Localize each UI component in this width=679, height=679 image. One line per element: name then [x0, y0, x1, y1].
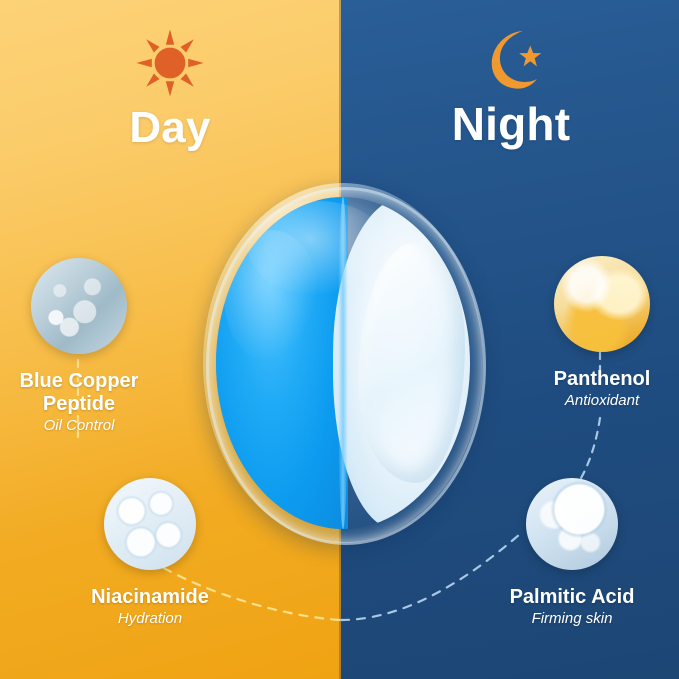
- cream-swirl: [358, 243, 465, 482]
- jar-contents: [216, 197, 470, 529]
- moon-star-icon: [474, 22, 548, 96]
- callout-niacinamide[interactable]: Niacinamide Hydration: [55, 478, 245, 629]
- sun-icon-wrap: [60, 22, 280, 104]
- ingredient-name: Blue Copper Peptide: [4, 370, 154, 416]
- ingredient-benefit: Antioxidant: [528, 391, 676, 411]
- day-title: Day: [60, 104, 280, 152]
- white-cream-chamber: [333, 197, 470, 529]
- ingredient-benefit: Hydration: [55, 609, 245, 629]
- day-header: Day: [60, 22, 280, 152]
- callout-palmitic-acid[interactable]: Palmitic Acid Firming skin: [473, 478, 671, 629]
- bubble-texture-swatch: [526, 478, 618, 570]
- night-header: Night: [400, 18, 622, 148]
- moon-icon-wrap: [400, 18, 622, 100]
- oil-capsule-texture-swatch: [554, 256, 650, 352]
- infographic-canvas: Day Night Blue Copper Peptide Oil Contro…: [0, 0, 679, 679]
- dual-chamber-jar: [203, 183, 483, 543]
- callout-panthenol[interactable]: Panthenol Antioxidant: [528, 256, 676, 411]
- ingredient-name: Niacinamide: [55, 586, 245, 609]
- molecule-texture-swatch: [104, 478, 196, 570]
- gel-texture-swatch: [31, 258, 127, 354]
- ingredient-name: Panthenol: [528, 368, 676, 391]
- ingredient-benefit: Firming skin: [473, 609, 671, 629]
- ingredient-name: Palmitic Acid: [473, 586, 671, 609]
- sun-icon: [135, 28, 205, 98]
- ingredient-benefit: Oil Control: [4, 416, 154, 436]
- callout-blue-copper-peptide[interactable]: Blue Copper Peptide Oil Control: [4, 258, 154, 436]
- chamber-divider: [338, 197, 348, 529]
- night-title: Night: [400, 100, 622, 148]
